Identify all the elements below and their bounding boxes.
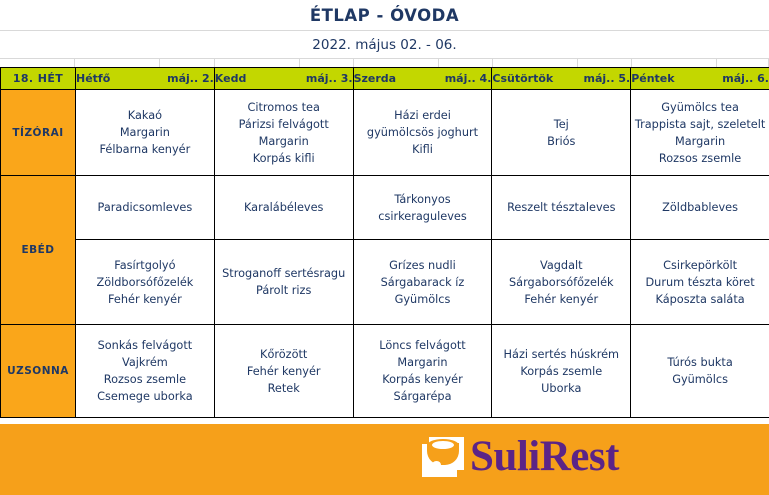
meal-label-tizorai: TÍZÓRAI [1, 90, 76, 176]
grid-cell [75, 59, 160, 67]
menu-cell-soup-wednesday: Tárkonyoscsirkeraguleves [353, 176, 492, 240]
menu-item-line: Paradicsomleves [76, 199, 214, 216]
day-date: máj.. 6. [722, 72, 769, 85]
menu-item-line: Párolt rizs [215, 282, 353, 299]
day-name: Szerda [354, 72, 397, 85]
menu-item-line: Reszelt tésztaleves [492, 199, 630, 216]
menu-item-line: Kakaó [76, 107, 214, 124]
menu-item-line: Fehér kenyér [492, 291, 630, 308]
meal-label-ebed: EBÉD [1, 176, 76, 325]
grid-cell [632, 59, 717, 67]
day-date: máj.. 2. [167, 72, 214, 85]
sulirest-logo: SuliRest [422, 435, 619, 478]
menu-cell-tizorai-friday: Gyümölcs teaTrappista sajt, szeleteltMar… [631, 90, 769, 176]
menu-item-line: Gyümölcs [631, 371, 769, 388]
menu-item-line: Rozsos zsemle [76, 371, 214, 388]
menu-item-line: Káposzta saláta [631, 291, 769, 308]
menu-cell-soup-thursday: Reszelt tésztaleves [492, 176, 631, 240]
weekly-menu-table: 18. HÉT Hétfő máj.. 2. Kedd máj.. 3. Sze… [0, 67, 769, 418]
day-name: Kedd [215, 72, 247, 85]
grid-cell [578, 59, 632, 67]
menu-item-line: Fehér kenyér [215, 363, 353, 380]
menu-item-line: Margarin [215, 133, 353, 150]
menu-cell-main-wednesday: Grízes nudliSárgabarack ízGyümölcs [353, 240, 492, 325]
menu-item-line: Karalábéleves [215, 199, 353, 216]
grid-cell [0, 59, 75, 67]
day-name: Hétfő [76, 72, 110, 85]
menu-item-line: Túrós bukta [631, 354, 769, 371]
menu-cell-tizorai-thursday: TejBriós [492, 90, 631, 176]
table-header-row: 18. HÉT Hétfő máj.. 2. Kedd máj.. 3. Sze… [1, 68, 769, 90]
menu-item-line: Trappista sajt, szeletelt [631, 116, 769, 133]
menu-item-line: Sárgarépa [354, 388, 492, 405]
table-row-tizorai: TÍZÓRAI KakaóMargarinFélbarna kenyér Cit… [1, 90, 769, 176]
title-band: ÉTLAP - ÓVODA [0, 0, 769, 31]
menu-item-line: Vajkrém [76, 354, 214, 371]
menu-cell-uzsonna-wednesday: Löncs felvágottMargarinKorpás kenyérSárg… [353, 325, 492, 418]
menu-item-line: Csemege uborka [76, 388, 214, 405]
menu-item-line: Vagdalt [492, 257, 630, 274]
date-range: 2022. május 02. - 06. [312, 37, 456, 53]
grid-cell [354, 59, 439, 67]
day-header-friday[interactable]: Péntek máj.. 6. [631, 68, 769, 90]
menu-item-line: Fehér kenyér [76, 291, 214, 308]
menu-item-line: Retek [215, 380, 353, 397]
bowl-icon [422, 437, 464, 477]
menu-cell-tizorai-tuesday: Citromos teaPárizsi felvágottMargarinKor… [214, 90, 353, 176]
menu-cell-uzsonna-thursday: Házi sertés húskrémKorpás zsemleUborka [492, 325, 631, 418]
subtitle-band: 2022. május 02. - 06. [0, 31, 769, 59]
menu-cell-main-tuesday: Stroganoff sertésraguPárolt rizs [214, 240, 353, 325]
day-date: máj.. 5. [584, 72, 631, 85]
menu-item-line: Kőrözött [215, 346, 353, 363]
menu-cell-tizorai-wednesday: Házi erdeigyümölcsös joghurtKifli [353, 90, 492, 176]
menu-item-line: Durum tészta köret [631, 274, 769, 291]
menu-cell-soup-tuesday: Karalábéleves [214, 176, 353, 240]
menu-item-line: Briós [492, 133, 630, 150]
logo-wordmark: SuliRest [470, 435, 619, 478]
menu-item-line: Rozsos zsemle [631, 150, 769, 167]
day-header-wednesday[interactable]: Szerda máj.. 4. [353, 68, 492, 90]
menu-item-line: Párizsi felvágott [215, 116, 353, 133]
menu-sheet: ÉTLAP - ÓVODA 2022. május 02. - 06. 18. … [0, 0, 769, 495]
grid-cell [439, 59, 493, 67]
menu-item-line: Citromos tea [215, 99, 353, 116]
table-row-ebed-soup: EBÉD Paradicsomleves Karalábéleves Tárko… [1, 176, 769, 240]
menu-item-line: Tej [492, 116, 630, 133]
grid-cell [160, 59, 215, 67]
menu-cell-tizorai-monday: KakaóMargarinFélbarna kenyér [76, 90, 215, 176]
footer-band: SuliRest [0, 424, 769, 495]
menu-item-line: Margarin [354, 354, 492, 371]
menu-item-line: Zöldbableves [631, 199, 769, 216]
week-number-header: 18. HÉT [1, 68, 76, 90]
menu-cell-main-thursday: VagdaltSárgaborsófőzelékFehér kenyér [492, 240, 631, 325]
menu-cell-soup-monday: Paradicsomleves [76, 176, 215, 240]
menu-item-line: Házi sertés húskrém [492, 346, 630, 363]
day-date: máj.. 4. [445, 72, 492, 85]
menu-item-line: Házi erdei [354, 107, 492, 124]
menu-item-line: Uborka [492, 380, 630, 397]
day-date: máj.. 3. [306, 72, 353, 85]
day-header-thursday[interactable]: Csütörtök máj.. 5. [492, 68, 631, 90]
menu-item-line: Grízes nudli [354, 257, 492, 274]
menu-item-line: Gyümölcs tea [631, 99, 769, 116]
menu-item-line: Zöldborsófőzelék [76, 274, 214, 291]
menu-item-line: Korpás zsemle [492, 363, 630, 380]
grid-cell [493, 59, 578, 67]
table-row-ebed-main: FasírtgolyóZöldborsófőzelékFehér kenyér … [1, 240, 769, 325]
menu-item-line: Fasírtgolyó [76, 257, 214, 274]
menu-item-line: csirkeraguleves [354, 208, 492, 225]
menu-cell-uzsonna-friday: Túrós buktaGyümölcs [631, 325, 769, 418]
day-header-tuesday[interactable]: Kedd máj.. 3. [214, 68, 353, 90]
menu-item-line: Korpás kifli [215, 150, 353, 167]
menu-item-line: Stroganoff sertésragu [215, 265, 353, 282]
menu-item-line: Korpás kenyér [354, 371, 492, 388]
menu-item-line: Sárgabarack íz [354, 274, 492, 291]
grid-cell [300, 59, 354, 67]
meal-label-uzsonna: UZSONNA [1, 325, 76, 418]
grid-cell [215, 59, 300, 67]
day-header-monday[interactable]: Hétfő máj.. 2. [76, 68, 215, 90]
table-row-uzsonna: UZSONNA Sonkás felvágottVajkrémRozsos zs… [1, 325, 769, 418]
menu-item-line: Sárgaborsófőzelék [492, 274, 630, 291]
grid-cell [717, 59, 769, 67]
day-name: Csütörtök [492, 72, 553, 85]
menu-item-line: Gyümölcs [354, 291, 492, 308]
menu-item-line: Félbarna kenyér [76, 141, 214, 158]
menu-item-line: Margarin [76, 124, 214, 141]
menu-item-line: Csirkepörkölt [631, 257, 769, 274]
menu-item-line: gyümölcsös joghurt [354, 124, 492, 141]
menu-item-line: Löncs felvágott [354, 337, 492, 354]
day-name: Péntek [631, 72, 674, 85]
menu-item-line: Sonkás felvágott [76, 337, 214, 354]
page-title: ÉTLAP - ÓVODA [310, 6, 459, 25]
menu-cell-main-friday: CsirkepörköltDurum tészta köretKáposzta … [631, 240, 769, 325]
menu-cell-soup-friday: Zöldbableves [631, 176, 769, 240]
menu-cell-uzsonna-tuesday: KőrözöttFehér kenyérRetek [214, 325, 353, 418]
menu-cell-uzsonna-monday: Sonkás felvágottVajkrémRozsos zsemleCsem… [76, 325, 215, 418]
menu-item-line: Tárkonyos [354, 191, 492, 208]
menu-item-line: Margarin [631, 133, 769, 150]
spreadsheet-gridline-strip [0, 59, 769, 67]
menu-item-line: Kifli [354, 141, 492, 158]
menu-cell-main-monday: FasírtgolyóZöldborsófőzelékFehér kenyér [76, 240, 215, 325]
